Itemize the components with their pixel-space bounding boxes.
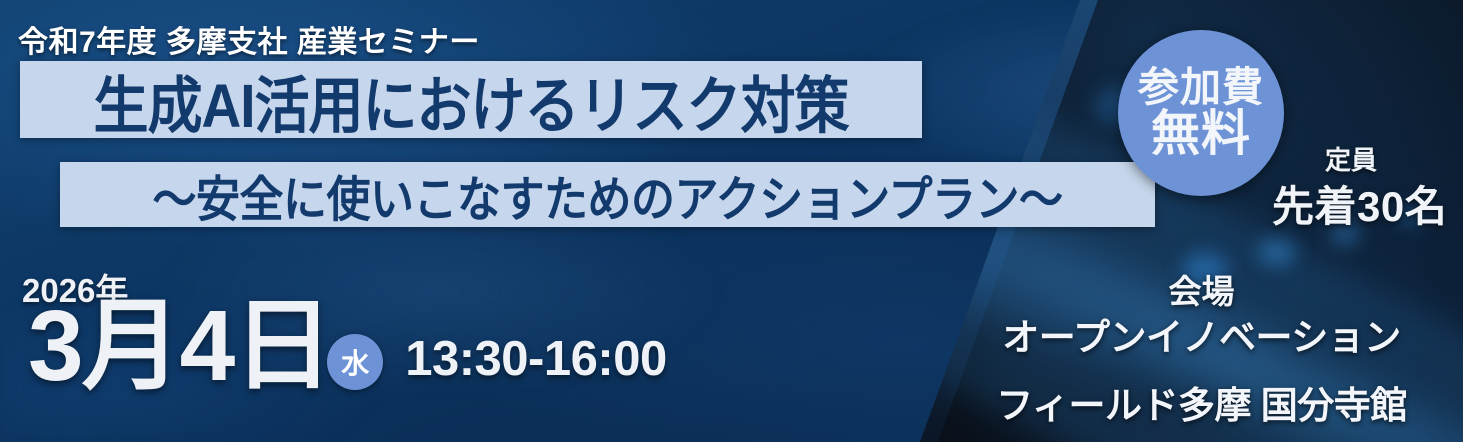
fee-badge: 参加費 無料: [1118, 30, 1284, 196]
day-of-week-badge: 水: [327, 334, 383, 390]
capacity-value: 先着30名: [1272, 173, 1447, 234]
seminar-banner: 令和7年度 多摩支社 産業セミナー 生成AI活用におけるリスク対策 〜安全に使い…: [0, 0, 1463, 442]
capacity-label: 定員: [1325, 140, 1377, 177]
event-time: 13:30-16:00: [405, 331, 666, 387]
fee-label: 参加費: [1138, 66, 1264, 109]
content-layer: 令和7年度 多摩支社 産業セミナー 生成AI活用におけるリスク対策 〜安全に使い…: [0, 0, 1463, 442]
venue-label: 会場: [940, 265, 1463, 313]
venue-name-line1: オープンイノベーション: [940, 307, 1463, 361]
title-plate: 生成AI活用におけるリスク対策: [20, 61, 922, 138]
event-date: 3月4日: [28, 296, 331, 396]
subtitle-plate: 〜安全に使いこなすためのアクションプラン〜: [60, 162, 1155, 227]
event-date-row: 3月4日 水 13:30-16:00: [28, 296, 667, 396]
day-of-week-label: 水: [341, 342, 369, 382]
fee-value: 無料: [1151, 109, 1251, 160]
banner-subtitle: 〜安全に使いこなすためのアクションプラン〜: [153, 159, 1063, 229]
venue-name-line2: フィールド多摩 国分寺館: [940, 375, 1463, 429]
banner-title: 生成AI活用におけるリスク対策: [93, 55, 848, 145]
